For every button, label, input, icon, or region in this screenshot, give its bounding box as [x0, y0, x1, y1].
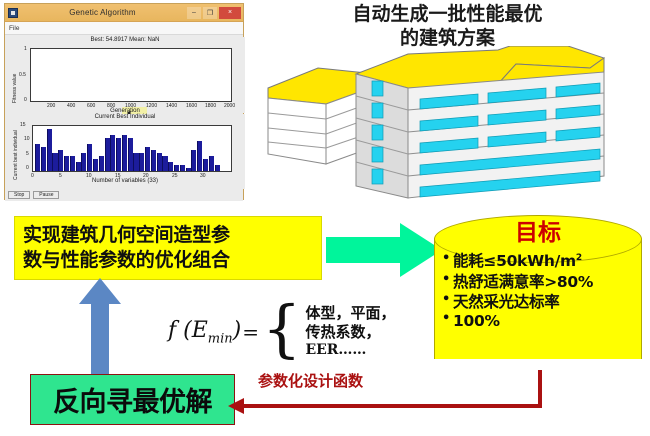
bar [180, 165, 185, 171]
bar-plot-xlabel: Number of variables (33) [5, 178, 245, 184]
bar [128, 138, 133, 171]
goal-bullet-list: 能耗≤50kWh/m2 热舒适满意率>80% 天然采光达标率 100% [434, 252, 642, 331]
best-individual-plot: Current Best Individual Current best ind… [5, 114, 245, 189]
headline-text: 自动生成一批性能最优 的建筑方案 [255, 2, 640, 51]
menu-bar[interactable]: File [5, 22, 243, 35]
formula-rhs-line-2: 传热系数， [305, 323, 395, 342]
bar [76, 162, 81, 171]
fitness-plot-title: Best: 54.8917 Mean: NaN [5, 37, 245, 43]
bar [197, 141, 202, 171]
parameter-combination-box: 实现建筑几何空间造型参 数与性能参数的优化组合 [14, 216, 322, 280]
goal-bullet-comfort: 热舒适满意率>80% [442, 273, 638, 292]
matlab-icon [8, 8, 18, 18]
green-right-arrow-icon [326, 221, 444, 279]
ytick-05: 0.5 [19, 72, 26, 78]
menu-item-file[interactable]: File [9, 25, 19, 32]
bar [162, 156, 167, 171]
bar [99, 156, 104, 171]
formula-rhs-line-3: EER…… [305, 342, 395, 360]
bar [174, 165, 179, 171]
genetic-algorithm-window[interactable]: Genetic Algorithm – ❐ × File Best: 54.89… [4, 3, 244, 200]
bar [151, 150, 156, 171]
bar [41, 147, 46, 171]
goal-cylinder: 目标 能耗≤50kWh/m2 热舒适满意率>80% 天然采光达标率 100% [434, 215, 642, 383]
bar-series [33, 126, 231, 171]
fitness-plot-axes [30, 48, 232, 102]
formula-lhs-subscript: min [208, 331, 233, 346]
bar [93, 159, 98, 171]
building-illustration [248, 46, 650, 221]
formula-lhs-close: ) [233, 318, 242, 343]
plot-footer: Stop Pause [5, 189, 246, 201]
formula-lhs-head: f (E [168, 318, 208, 343]
bar-plot-title: Current Best Individual [5, 114, 245, 120]
bar [105, 138, 110, 171]
goal-bullet-daylight-value: 100% [442, 312, 638, 331]
bar [215, 165, 220, 171]
bar [133, 153, 138, 171]
window-controls: – ❐ × [187, 7, 241, 19]
design-function-formula: f (Emin) = { 体型，平面， 传热系数， EER…… [168, 296, 408, 368]
ytick-0: 0 [24, 97, 27, 103]
close-button[interactable]: × [219, 7, 241, 19]
bar [191, 150, 196, 171]
bar [139, 153, 144, 171]
goal-title: 目标 [434, 221, 642, 246]
bar [52, 153, 57, 171]
fitness-plot: Best: 54.8917 Mean: NaN Fitness value 1 … [5, 37, 245, 113]
bar [209, 156, 214, 171]
formula-brace: { [262, 307, 301, 352]
formula-lhs: f (Emin) [168, 318, 241, 346]
bar-ytick-10: 10 [24, 136, 30, 142]
bar [145, 147, 150, 171]
formula-rhs-line-1: 体型，平面， [305, 304, 395, 323]
ytick-1: 1 [24, 46, 27, 52]
bar [203, 159, 208, 171]
bar [47, 129, 52, 171]
bar-ytick-5: 5 [26, 151, 29, 157]
reverse-search-box: 反向寻最优解 [30, 374, 235, 425]
plots-container: Best: 54.8917 Mean: NaN Fitness value 1 … [5, 35, 243, 201]
bar [110, 135, 115, 171]
bar [168, 162, 173, 171]
bar [58, 150, 63, 171]
reverse-search-label: 反向寻最优解 [53, 380, 212, 419]
bar-ytick-15: 15 [20, 122, 26, 128]
window-titlebar[interactable]: Genetic Algorithm – ❐ × [5, 4, 243, 22]
feedback-arrow-label: 参数化设计函数 [258, 370, 363, 391]
bar [157, 153, 162, 171]
goal-bullet-daylight: 天然采光达标率 [442, 293, 638, 312]
goal-bullet-energy-text: 能耗≤50kWh/m [453, 252, 576, 270]
yellow-box-line-2: 数与性能参数的优化组合 [23, 248, 315, 273]
bar [70, 156, 75, 171]
bar-plot-ylabel: Current best individual [13, 130, 19, 180]
slide-canvas: Genetic Algorithm – ❐ × File Best: 54.89… [0, 0, 650, 436]
formula-rhs: 体型，平面， 传热系数， EER…… [305, 304, 395, 360]
bar [186, 168, 191, 171]
goal-content: 目标 能耗≤50kWh/m2 热舒适满意率>80% 天然采光达标率 100% [434, 221, 642, 332]
headline-line-1: 自动生成一批性能最优 [255, 2, 640, 26]
formula-equals: = [242, 320, 259, 344]
bar [81, 153, 86, 171]
pause-button[interactable]: Pause [33, 191, 59, 199]
bar [64, 156, 69, 171]
bar [35, 144, 40, 171]
bar [122, 135, 127, 171]
bar-ytick-0: 0 [26, 165, 29, 171]
goal-bullet-energy: 能耗≤50kWh/m2 [442, 252, 638, 271]
bar-plot-axes [32, 125, 232, 172]
yellow-box-line-1: 实现建筑几何空间造型参 [23, 223, 315, 248]
fitness-plot-ylabel: Fitness value [12, 74, 18, 103]
goal-bullet-energy-sup: 2 [576, 253, 582, 263]
blue-up-arrow-icon [78, 278, 122, 382]
goal-bullet-daylight-text: 天然采光达标率 [453, 293, 559, 311]
window-title: Genetic Algorithm [18, 8, 187, 17]
stop-button[interactable]: Stop [8, 191, 30, 199]
bar [87, 144, 92, 171]
minimize-button[interactable]: – [187, 7, 201, 19]
maximize-button[interactable]: ❐ [203, 7, 217, 19]
bar [116, 138, 121, 171]
